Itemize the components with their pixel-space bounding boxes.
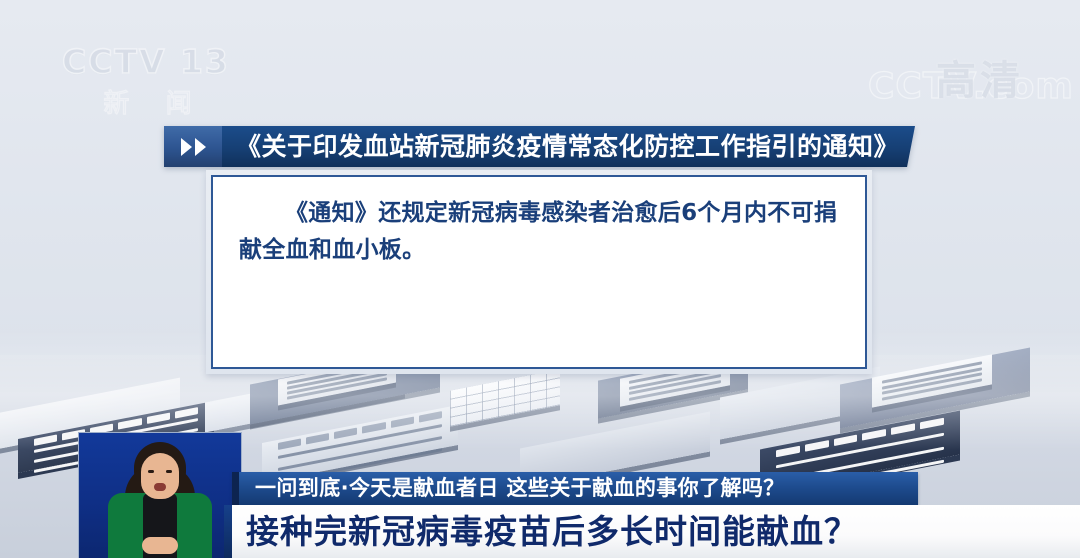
document-title-bar: 《关于印发血站新冠肺炎疫情常态化防控工作指引的通知》 <box>164 126 915 167</box>
anchor-hands <box>142 537 178 554</box>
document-title-text: 《关于印发血站新冠肺炎疫情常态化防控工作指引的通知》 <box>222 126 915 167</box>
program-strap-text: 一问到底·今天是献血者日 这些关于献血的事你了解吗？ <box>239 472 785 505</box>
corner-watermark: CCTV.com 高清 <box>868 46 1068 118</box>
channel-watermark-text: CCTV 13 <box>62 42 237 81</box>
hd-badge: 高清 <box>936 48 1024 106</box>
document-panel-inner: 《通知》还规定新冠病毒感染者治愈后6个月内不可捐献全血和血小板。 <box>211 175 867 369</box>
broadcast-frame: CCTV 13 新 闻 CCTV.com 高清 《关于印发血站新冠肺炎疫情常态化… <box>0 0 1080 558</box>
program-strap: 一问到底·今天是献血者日 这些关于献血的事你了解吗？ <box>232 472 918 505</box>
document-body-text: 《通知》还规定新冠病毒感染者治愈后6个月内不可捐献全血和血小板。 <box>239 195 839 269</box>
double-chevron-right-icon <box>164 126 222 167</box>
headline-text: 接种完新冠病毒疫苗后多长时间能献血？ <box>232 505 858 558</box>
channel-watermark-subtext: 新 闻 <box>62 83 237 120</box>
document-panel: 《通知》还规定新冠病毒感染者治愈后6个月内不可捐献全血和血小板。 <box>206 170 872 374</box>
headline-strap: 接种完新冠病毒疫苗后多长时间能献血？ <box>232 505 1080 558</box>
channel-watermark: CCTV 13 新 闻 <box>62 42 237 120</box>
program-strap-edge <box>232 472 239 505</box>
headline-strap-edge <box>224 505 232 558</box>
news-anchor-inset <box>78 432 242 558</box>
anchor-face <box>141 453 179 499</box>
